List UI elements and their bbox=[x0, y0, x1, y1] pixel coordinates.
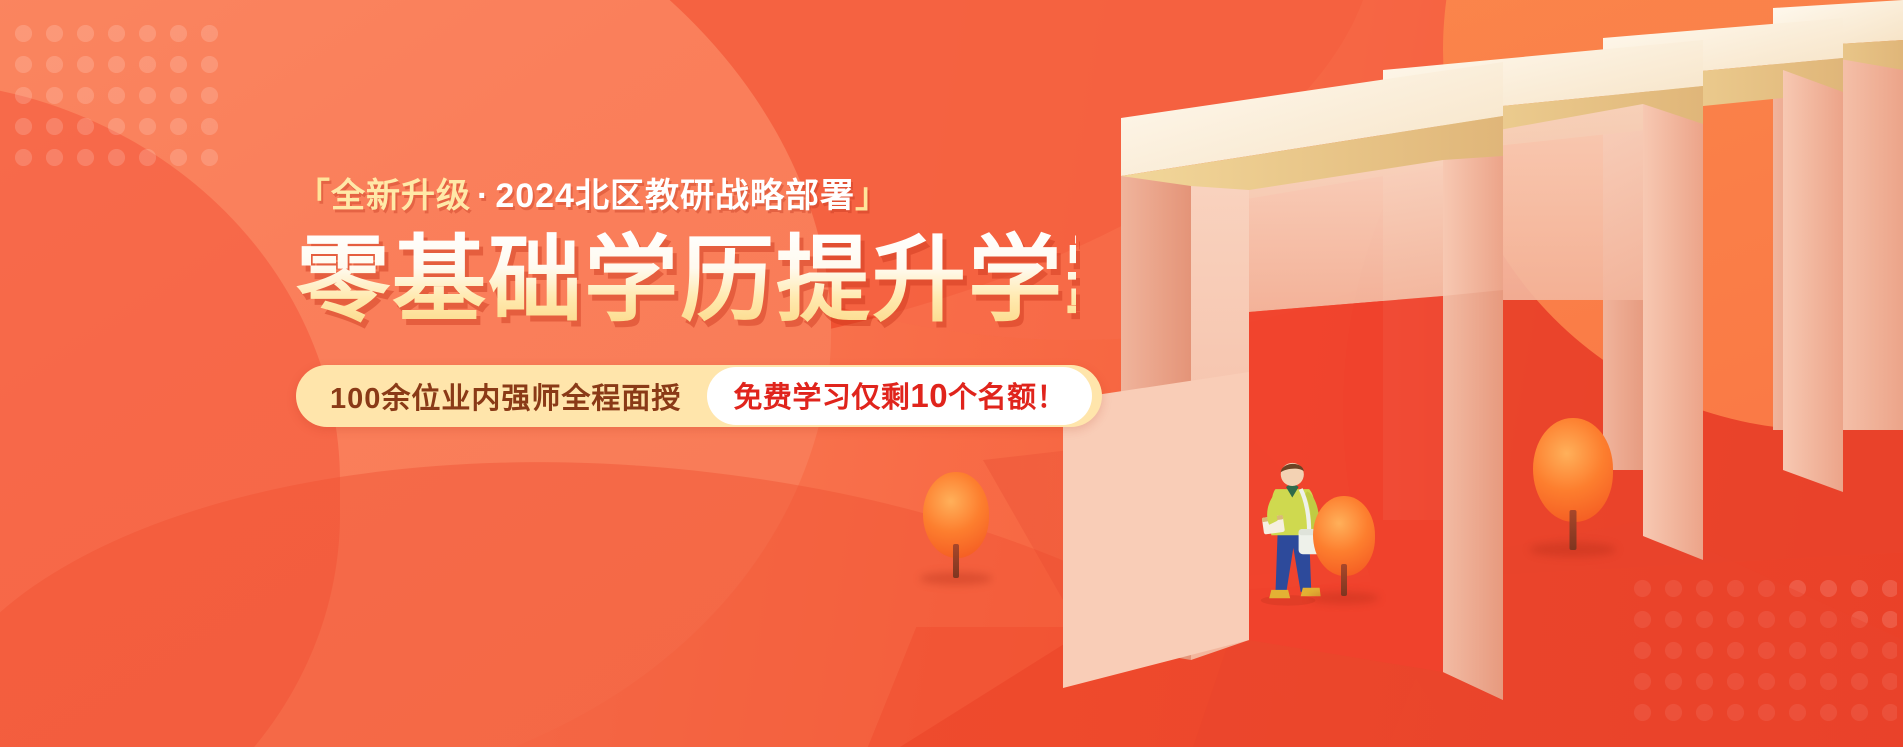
bg-ground-wedge bbox=[900, 547, 1903, 747]
tree-mid bbox=[1313, 496, 1375, 576]
page-title: 零基础学历提升学霸班 bbox=[296, 229, 1076, 331]
badge-suffix: 个名额！ bbox=[948, 382, 1066, 414]
tree-right bbox=[1533, 418, 1613, 522]
gate-arch-2 bbox=[1383, 40, 1703, 560]
pill-left-label: 100余位业内强师全程面授 bbox=[330, 375, 707, 417]
bg-blob-bottom-red bbox=[0, 417, 1393, 747]
badge-prefix: 免费学习仅剩 bbox=[733, 382, 910, 414]
gate-arch-3 bbox=[1603, 18, 1843, 492]
subtitle-highlight: 全新升级 bbox=[331, 177, 471, 215]
banner-subtitle: 「全新升级·2024北区教研战略部署」 bbox=[296, 178, 1076, 215]
bracket-close-glyph: 」 bbox=[855, 177, 890, 215]
tree-left bbox=[923, 472, 989, 558]
bracket-open-glyph: 「 bbox=[296, 177, 331, 215]
dot-grid-top-left bbox=[8, 18, 228, 173]
bg-blob-bottom-sliver bbox=[844, 627, 1437, 747]
highlight-pill: 100余位业内强师全程面授 免费学习仅剩10个名额！ bbox=[296, 365, 1102, 427]
seats-remaining-badge[interactable]: 免费学习仅剩10个名额！ bbox=[707, 367, 1092, 424]
bg-blob-left-deep bbox=[0, 80, 340, 747]
gate-arch-4 bbox=[1773, 0, 1903, 430]
subtitle-separator: · bbox=[471, 177, 495, 215]
bg-blob-right-circle bbox=[1443, 0, 1903, 430]
banner-copy: 「全新升级·2024北区教研战略部署」 零基础学历提升学霸班 100余位业内强师… bbox=[296, 178, 1076, 427]
subtitle-rest: 2024北区教研战略部署 bbox=[495, 177, 855, 215]
promo-banner: 「全新升级·2024北区教研战略部署」 零基础学历提升学霸班 100余位业内强师… bbox=[0, 0, 1903, 747]
bg-blob-right-dark bbox=[1343, 0, 1903, 747]
badge-seat-count: 10 bbox=[910, 377, 948, 414]
student-figure bbox=[1261, 463, 1324, 606]
gate-arch-1 bbox=[1063, 62, 1503, 700]
dot-grid-bottom-right bbox=[1627, 573, 1897, 733]
